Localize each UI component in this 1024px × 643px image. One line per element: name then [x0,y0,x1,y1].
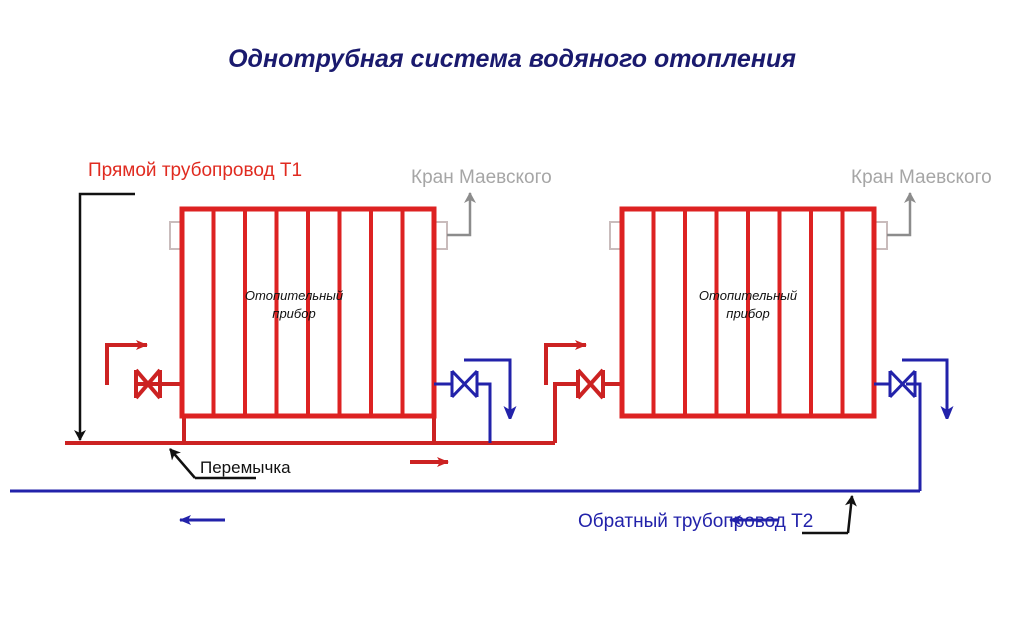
air-valve-label-right: Кран Маевского [851,167,992,188]
air-valve-label-left: Кран Маевского [411,167,552,188]
radiator-1-label-line2: прибор [272,306,315,321]
return-pipe-label: Обратный трубопровод Т2 [578,511,813,532]
supply-pipe-leader [80,194,135,440]
diagram-canvas: Однотрубная система водяного отопления [0,0,1024,643]
radiator-1-outlet-down [477,384,490,443]
supply-pipe-label: Прямой трубопровод Т1 [88,160,302,181]
radiator-2[interactable]: Отопительный прибор [610,209,887,416]
return-valve-1[interactable] [452,371,477,397]
supply-riser-2 [555,384,578,443]
radiator-2-label-line1: Отопительный [699,288,797,303]
supply-valve-2[interactable] [578,370,603,398]
radiator-1[interactable]: Отопительный прибор [170,209,447,416]
return-riser-2 [906,384,920,491]
air-valve-leader-left [447,193,470,235]
page-title: Однотрубная система водяного отопления [228,45,796,73]
radiator-1-label-line1: Отопительный [245,288,343,303]
supply-flow-stub-1 [107,345,147,385]
air-valve-leader-right [887,193,910,235]
bypass-label: Перемычка [200,458,291,477]
radiator-2-label-line2: прибор [726,306,769,321]
